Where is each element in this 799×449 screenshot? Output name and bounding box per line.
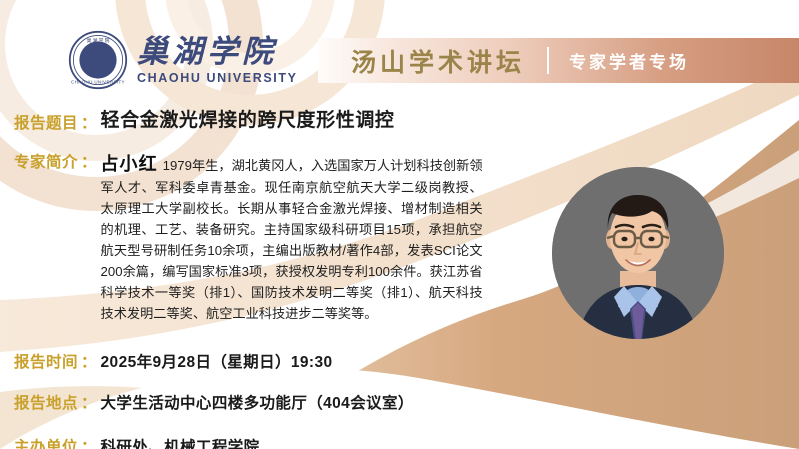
poster-header: CHAOHU UNIVERSITY 巢 湖 学 院 巢湖学院 CHAOHU UN…: [0, 0, 799, 105]
university-name-en: CHAOHU UNIVERSITY: [137, 72, 298, 85]
svg-text:巢 湖 学 院: 巢 湖 学 院: [87, 37, 110, 44]
field-report-place: 报告地点 ： 大学生活动中心四楼多功能厅（404会议室）: [14, 391, 799, 413]
colon-report-place: ：: [78, 391, 99, 413]
label-report-time: 报告时间: [14, 350, 78, 372]
field-report-title: 报告题目 ： 轻合金激光焊接的跨尺度形性调控: [14, 111, 799, 133]
label-report-place: 报告地点: [14, 391, 78, 413]
university-name-cn: 巢湖学院: [137, 36, 277, 67]
speaker-bio-paragraph: 占小红1979年生，湖北黄冈人，入选国家万人计划科技创新领军人才、军科委卓青基金…: [101, 150, 483, 324]
label-report-title: 报告题目: [14, 111, 78, 133]
university-logo: CHAOHU UNIVERSITY 巢 湖 学 院 巢湖学院 CHAOHU UN…: [68, 30, 298, 90]
colon-report-title: ：: [78, 111, 99, 133]
chaohu-university-seal-icon: CHAOHU UNIVERSITY 巢 湖 学 院: [68, 30, 128, 90]
colon-organizer: ：: [78, 435, 99, 449]
svg-text:CHAOHU UNIVERSITY: CHAOHU UNIVERSITY: [71, 79, 125, 84]
field-speaker-bio: 专家简介 ： 占小红1979年生，湖北黄冈人，入选国家万人计划科技创新领军人才、…: [14, 150, 499, 324]
field-organizer: 主办单位 ： 科研处、机械工程学院: [14, 435, 799, 449]
speaker-bio-text: 1979年生，湖北黄冈人，入选国家万人计划科技创新领军人才、军科委卓青基金。现任…: [101, 158, 483, 321]
poster-canvas: CHAOHU UNIVERSITY 巢 湖 学 院 巢湖学院 CHAOHU UN…: [0, 0, 799, 449]
colon-report-time: ：: [78, 350, 99, 372]
banner-separator: [547, 47, 549, 74]
value-report-time: 2025年9月28日（星期日）19:30: [101, 350, 333, 372]
value-report-place: 大学生活动中心四楼多功能厅（404会议室）: [101, 391, 414, 413]
speaker-name: 占小红: [101, 154, 158, 174]
event-banner: 汤山学术讲坛 专家学者专场: [318, 38, 799, 83]
university-name-block: 巢湖学院 CHAOHU UNIVERSITY: [137, 36, 298, 85]
label-speaker-bio: 专家简介: [14, 150, 78, 172]
banner-title: 汤山学术讲坛: [351, 43, 525, 79]
value-organizer: 科研处、机械工程学院: [101, 435, 260, 449]
value-report-title: 轻合金激光焊接的跨尺度形性调控: [101, 111, 395, 132]
colon-speaker-bio: ：: [78, 150, 99, 172]
field-report-time: 报告时间 ： 2025年9月28日（星期日）19:30: [14, 350, 799, 372]
speaker-portrait-photo: [552, 167, 724, 339]
label-organizer: 主办单位: [14, 435, 78, 449]
banner-subtitle: 专家学者专场: [569, 48, 689, 73]
